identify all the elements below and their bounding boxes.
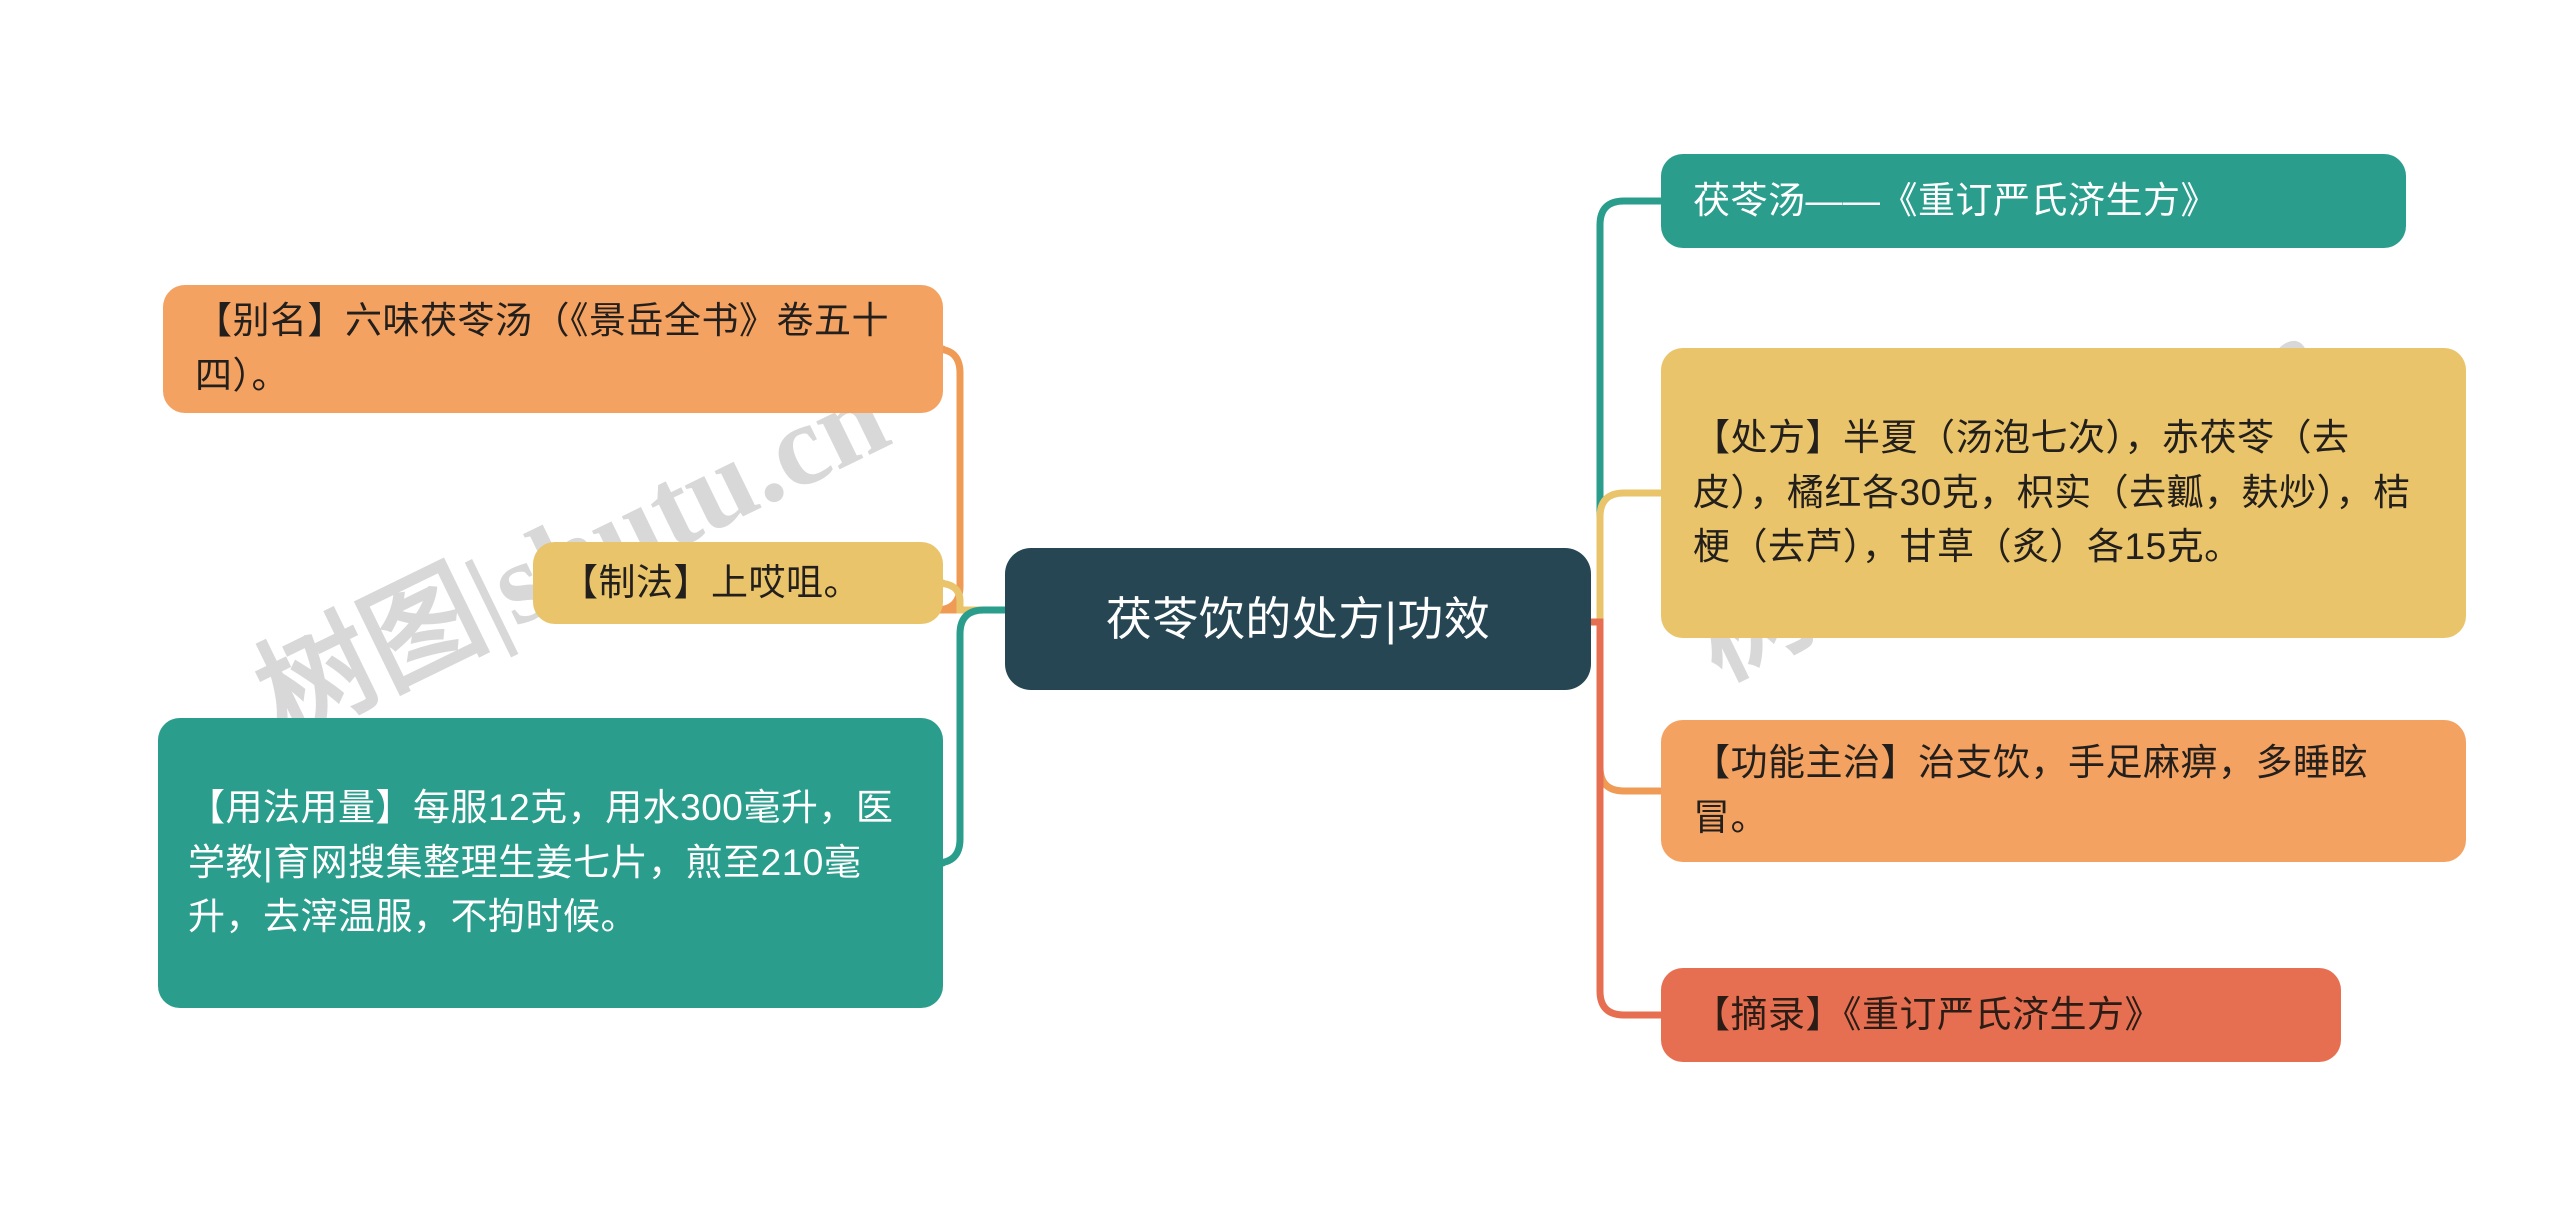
mindmap-canvas: 树图|shutu.cn 树图|shutu.cn 茯苓饮的处方|功效 【别名】六味… (0, 0, 2560, 1225)
node-zhifa[interactable]: 【制法】上哎咀。 (533, 542, 943, 624)
wire-chufang (1591, 493, 1661, 622)
node-zhifa-label: 【制法】上哎咀。 (561, 556, 917, 611)
node-zhailu-label: 【摘录】《重订严氏济生方》 (1693, 988, 2315, 1043)
node-zhailu[interactable]: 【摘录】《重订严氏济生方》 (1661, 968, 2341, 1062)
central-node-label: 茯苓饮的处方|功效 (1005, 585, 1591, 653)
node-chufang[interactable]: 【处方】半夏（汤泡七次），赤茯苓（去皮），橘红各30克，枳实（去瓤，麸炒），桔梗… (1661, 348, 2466, 638)
wire-zhailu (1591, 622, 1661, 1015)
node-yongfa[interactable]: 【用法用量】每服12克，用水300毫升，医学教|育网搜集整理生姜七片，煎至210… (158, 718, 943, 1008)
central-node[interactable]: 茯苓饮的处方|功效 (1005, 548, 1591, 690)
node-fulingtang-label: 茯苓汤——《重订严氏济生方》 (1693, 174, 2378, 229)
wire-yongfa (936, 610, 1005, 863)
node-bieming[interactable]: 【别名】六味茯苓汤（《景岳全书》卷五十四）。 (163, 285, 943, 413)
node-gongneng[interactable]: 【功能主治】治支饮，手足麻痹，多睡眩冒。 (1661, 720, 2466, 862)
wire-bieming (936, 349, 1005, 610)
node-gongneng-label: 【功能主治】治支饮，手足麻痹，多睡眩冒。 (1693, 736, 2440, 846)
node-yongfa-label: 【用法用量】每服12克，用水300毫升，医学教|育网搜集整理生姜七片，煎至210… (188, 781, 915, 945)
node-bieming-label: 【别名】六味茯苓汤（《景岳全书》卷五十四）。 (195, 294, 913, 404)
node-fulingtang[interactable]: 茯苓汤——《重订严氏济生方》 (1661, 154, 2406, 248)
node-chufang-label: 【处方】半夏（汤泡七次），赤茯苓（去皮），橘红各30克，枳实（去瓤，麸炒），桔梗… (1693, 411, 2440, 575)
